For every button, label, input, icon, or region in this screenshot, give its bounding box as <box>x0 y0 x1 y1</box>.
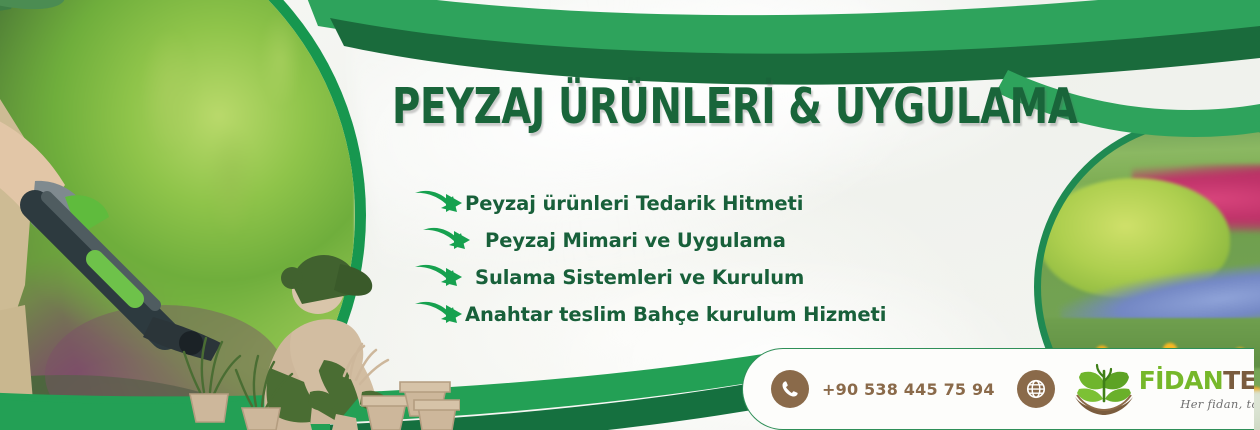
list-item: Peyzaj Mimari ve Uygulama <box>421 223 1013 257</box>
globe-glyph <box>1025 378 1047 400</box>
brand-name-part1: FİDAN <box>1139 366 1223 395</box>
brand-name: FİDANTEDARİK <box>1139 368 1254 393</box>
arrow-right-icon <box>413 299 465 329</box>
list-item-label: Anahtar teslim Bahçe kurulum Hizmeti <box>465 303 886 326</box>
contact-bar: +90 538 445 75 94 <box>742 348 1254 430</box>
list-item-label: Sulama Sistemleri ve Kurulum <box>465 266 804 289</box>
list-item-label: Peyzaj Mimari ve Uygulama <box>473 229 786 252</box>
peyzaj-banner: PEYZAJ ÜRÜNLERİ & UYGULAMA Peyzaj ürünle… <box>0 0 1260 430</box>
list-item: Sulama Sistemleri ve Kurulum <box>413 260 1013 294</box>
phone-number[interactable]: +90 538 445 75 94 <box>822 380 995 399</box>
brand-name-part2: TEDARİK <box>1223 366 1254 395</box>
services-list: Peyzaj ürünleri Tedarik Hitmeti Peyzaj M… <box>413 186 1013 334</box>
potted-grass-decoration <box>182 336 302 430</box>
arrow-right-icon <box>421 225 473 255</box>
brand-logo[interactable]: FİDANTEDARİK Her fidan, toprağa bir can <box>1073 363 1254 415</box>
arrow-right-icon <box>413 188 465 218</box>
plant-in-hand-icon <box>1073 363 1135 415</box>
list-item-label: Peyzaj ürünleri Tedarik Hitmeti <box>465 192 803 215</box>
globe-icon[interactable] <box>1017 370 1055 408</box>
brand-wordmark: FİDANTEDARİK Her fidan, toprağa bir can <box>1139 368 1254 411</box>
list-item: Anahtar teslim Bahçe kurulum Hizmeti <box>413 297 1013 331</box>
phone-icon[interactable] <box>771 370 809 408</box>
page-title: PEYZAJ ÜRÜNLERİ & UYGULAMA <box>392 82 913 131</box>
list-item: Peyzaj ürünleri Tedarik Hitmeti <box>413 186 1013 220</box>
arrow-right-icon <box>413 262 465 292</box>
brand-tagline: Her fidan, toprağa bir can <box>1139 397 1254 411</box>
phone-glyph <box>780 379 800 399</box>
